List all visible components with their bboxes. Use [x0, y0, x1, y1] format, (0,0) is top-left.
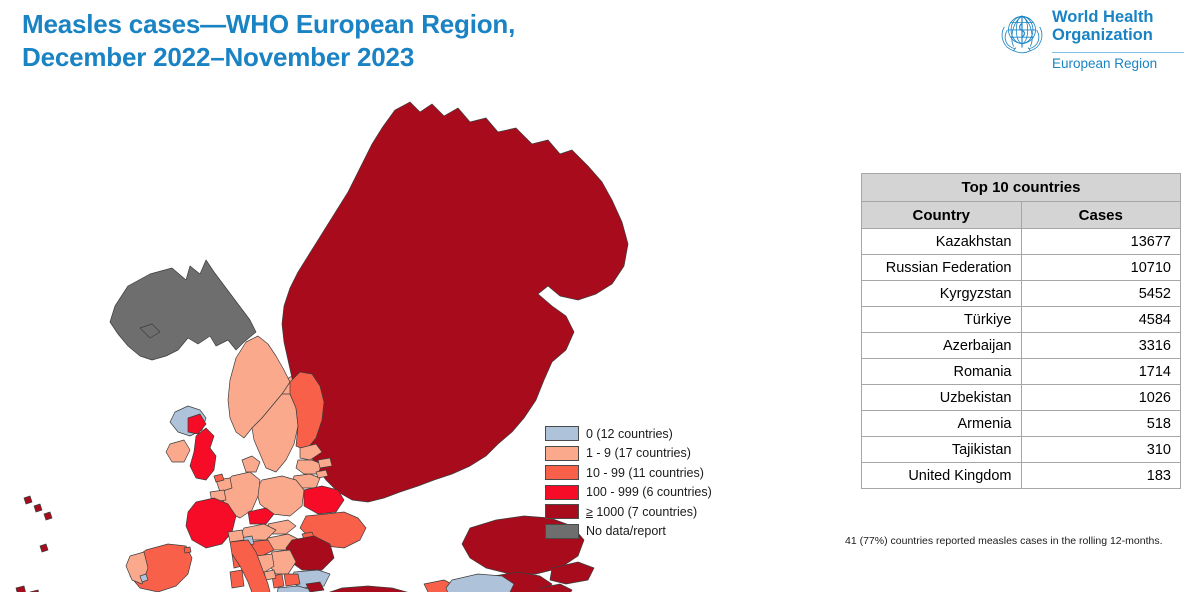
legend-label-4-text: 1000 (7 countries) — [596, 505, 697, 519]
legend-label-3: 100 - 999 (6 countries) — [586, 486, 712, 499]
country-france — [186, 498, 236, 548]
page-title-line-2: December 2022–November 2023 — [22, 41, 722, 74]
cell-cases: 1026 — [1021, 385, 1181, 411]
cell-cases: 1714 — [1021, 359, 1181, 385]
legend-swatch-3 — [545, 485, 579, 500]
country-greenland — [110, 260, 256, 360]
table-title: Top 10 countries — [862, 174, 1181, 202]
cell-country: Armenia — [862, 411, 1022, 437]
who-org-line-1: World Health — [1052, 8, 1186, 26]
cell-cases: 3316 — [1021, 333, 1181, 359]
legend-item-4: ≥ 1000 (7 countries) — [545, 502, 720, 522]
legend-swatch-0 — [545, 426, 579, 441]
country-north-macedonia — [284, 574, 300, 586]
cell-cases: 10710 — [1021, 255, 1181, 281]
table-title-row: Top 10 countries — [862, 174, 1181, 202]
who-logo: World Health Organization European Regio… — [996, 4, 1186, 82]
table-footnote: 41 (77%) countries reported measles case… — [845, 535, 1195, 547]
country-denmark — [242, 456, 260, 472]
cell-country: Russian Federation — [862, 255, 1022, 281]
who-wordmark: World Health Organization — [1052, 8, 1186, 45]
cell-country: Kyrgyzstan — [862, 281, 1022, 307]
cell-country: Türkiye — [862, 307, 1022, 333]
legend-item-3: 100 - 999 (6 countries) — [545, 483, 720, 503]
who-org-line-2: Organization — [1052, 26, 1186, 44]
legend-label-2: 10 - 99 (11 countries) — [586, 467, 704, 480]
who-subbrand-label: European Region — [1052, 56, 1192, 71]
country-switzerland — [228, 530, 244, 542]
table-row: Tajikistan 310 — [862, 437, 1181, 463]
country-andorra — [184, 547, 191, 553]
cell-country: Kazakhstan — [862, 229, 1022, 255]
country-sardinia — [230, 570, 244, 588]
legend-label-4: ≥ 1000 (7 countries) — [586, 506, 697, 519]
top-10-countries-table: Top 10 countries Country Cases Kazakhsta… — [861, 173, 1181, 489]
cell-cases: 5452 — [1021, 281, 1181, 307]
table-body: Top 10 countries Country Cases Kazakhsta… — [862, 174, 1181, 489]
table-row: United Kingdom 183 — [862, 463, 1181, 489]
legend-item-0: 0 (12 countries) — [545, 424, 720, 444]
table-row: Türkiye 4584 — [862, 307, 1181, 333]
cell-country: United Kingdom — [862, 463, 1022, 489]
country-turkiye — [316, 586, 424, 592]
table-row: Kyrgyzstan 5452 — [862, 281, 1181, 307]
legend-item-2: 10 - 99 (11 countries) — [545, 463, 720, 483]
table-row: Romania 1714 — [862, 359, 1181, 385]
legend-item-5: No data/report — [545, 522, 720, 542]
country-ireland — [166, 440, 190, 462]
page-title-line-1: Measles cases—WHO European Region, — [22, 8, 722, 41]
who-logo-divider — [1052, 52, 1184, 53]
legend-label-5: No data/report — [586, 525, 666, 538]
table-row: Uzbekistan 1026 — [862, 385, 1181, 411]
cell-country: Tajikistan — [862, 437, 1022, 463]
column-header-cases: Cases — [1021, 202, 1181, 229]
cell-cases: 13677 — [1021, 229, 1181, 255]
legend-swatch-2 — [545, 465, 579, 480]
cell-country: Romania — [862, 359, 1022, 385]
cell-country: Uzbekistan — [862, 385, 1022, 411]
page-title: Measles cases—WHO European Region, Decem… — [22, 8, 722, 74]
legend-swatch-4 — [545, 504, 579, 519]
cell-cases: 518 — [1021, 411, 1181, 437]
table-row: Russian Federation 10710 — [862, 255, 1181, 281]
greater-equal-symbol: ≥ — [586, 505, 593, 519]
legend-swatch-1 — [545, 446, 579, 461]
table-header-row: Country Cases — [862, 202, 1181, 229]
column-header-country: Country — [862, 202, 1022, 229]
legend-label-0: 0 (12 countries) — [586, 428, 673, 441]
cell-cases: 4584 — [1021, 307, 1181, 333]
cell-country: Azerbaijan — [862, 333, 1022, 359]
map-legend: 0 (12 countries) 1 - 9 (17 countries) 10… — [545, 424, 720, 541]
legend-label-1: 1 - 9 (17 countries) — [586, 447, 691, 460]
legend-item-1: 1 - 9 (17 countries) — [545, 444, 720, 464]
cell-cases: 183 — [1021, 463, 1181, 489]
who-emblem-icon — [996, 6, 1048, 58]
table-row: Kazakhstan 13677 — [862, 229, 1181, 255]
legend-swatch-5 — [545, 524, 579, 539]
country-belarus — [304, 486, 344, 514]
country-united-kingdom — [190, 428, 216, 480]
table-row: Azerbaijan 3316 — [862, 333, 1181, 359]
cell-cases: 310 — [1021, 437, 1181, 463]
table-row: Armenia 518 — [862, 411, 1181, 437]
